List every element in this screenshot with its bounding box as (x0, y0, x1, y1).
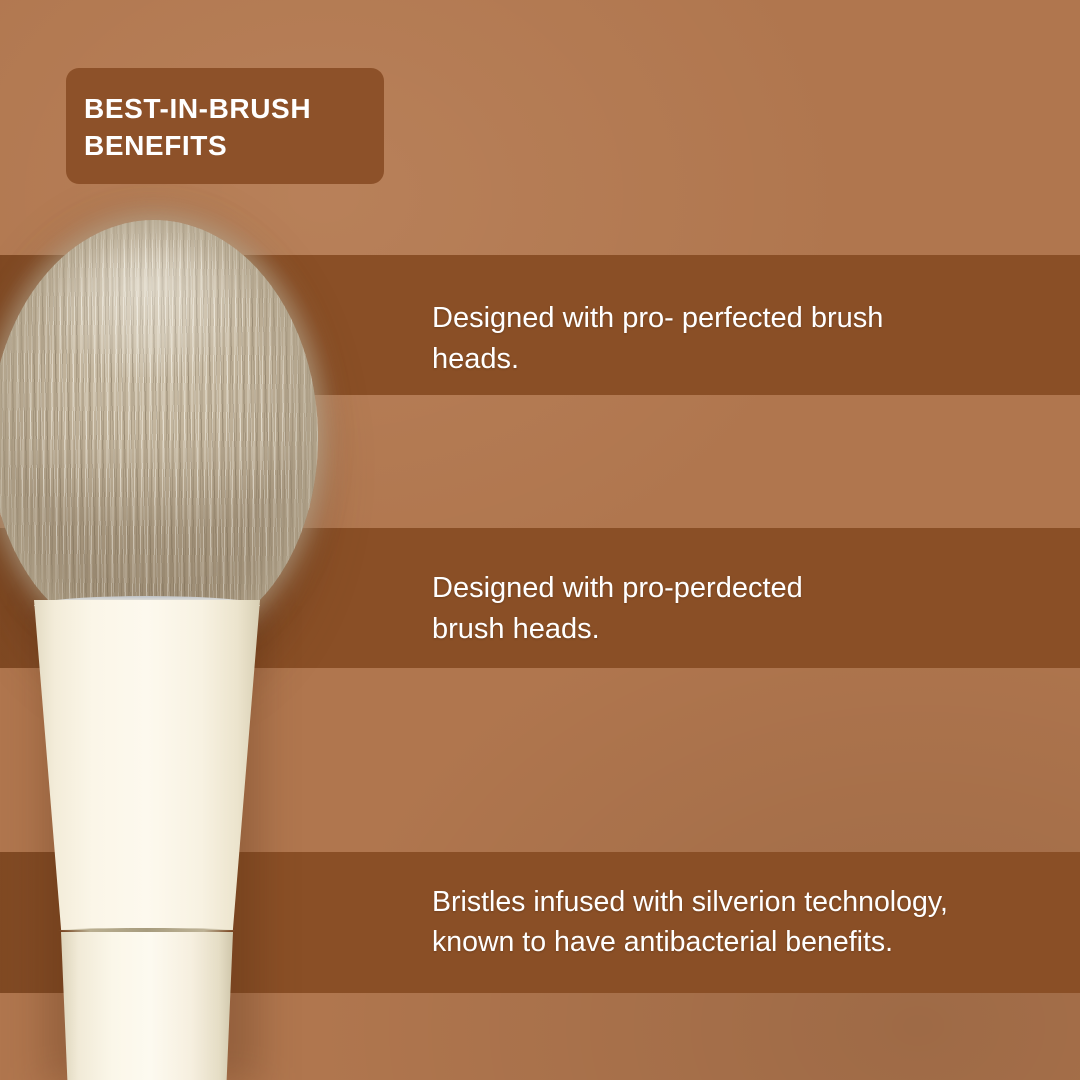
benefit-text-3: Bristles infused with silverion technolo… (432, 882, 1080, 963)
poster-canvas: BEST-IN-BRUSH BENEFITS Designed with pro… (0, 0, 1080, 1080)
benefit-text-1: Designed with pro- perfected brush heads… (432, 298, 1032, 380)
brush-ferrule (34, 600, 260, 930)
makeup-brush-image (0, 206, 368, 1080)
benefit-text-2: Designed with pro-perdected brush heads. (432, 568, 1032, 650)
title-badge: BEST-IN-BRUSH BENEFITS (66, 68, 384, 184)
brush-bristle-head (0, 220, 318, 640)
page-title: BEST-IN-BRUSH BENEFITS (84, 90, 360, 164)
brush-handle (61, 932, 233, 1080)
